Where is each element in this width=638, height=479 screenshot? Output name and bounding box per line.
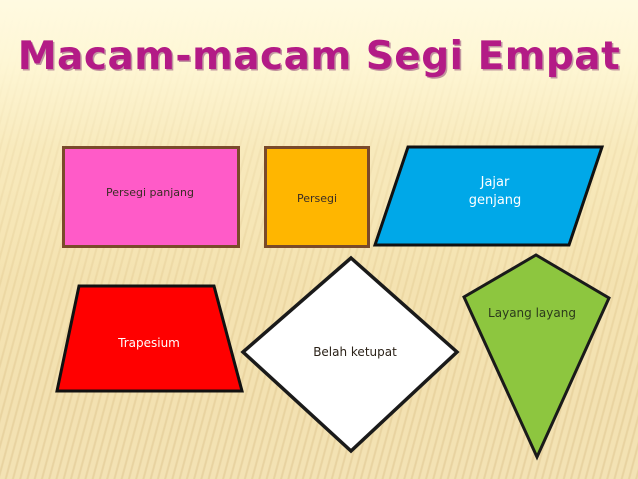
rhombus-icon — [240, 255, 460, 455]
page-title: Macam-macam Segi Empat — [0, 36, 638, 79]
parallelogram-icon — [373, 145, 605, 249]
shape-trapesium[interactable] — [54, 283, 246, 395]
trapezoid-icon — [54, 283, 246, 395]
rectangle-icon — [62, 146, 240, 248]
shape-persegi[interactable] — [264, 146, 370, 248]
slide-canvas: Macam-macam Segi Empat Persegi panjang P… — [0, 0, 638, 479]
shape-layang-layang[interactable] — [461, 252, 613, 460]
shape-jajar-genjang[interactable] — [373, 145, 605, 249]
shape-belah-ketupat[interactable] — [240, 255, 460, 455]
shape-persegi-panjang[interactable] — [62, 146, 240, 248]
square-icon — [264, 146, 370, 248]
kite-icon — [461, 252, 613, 460]
